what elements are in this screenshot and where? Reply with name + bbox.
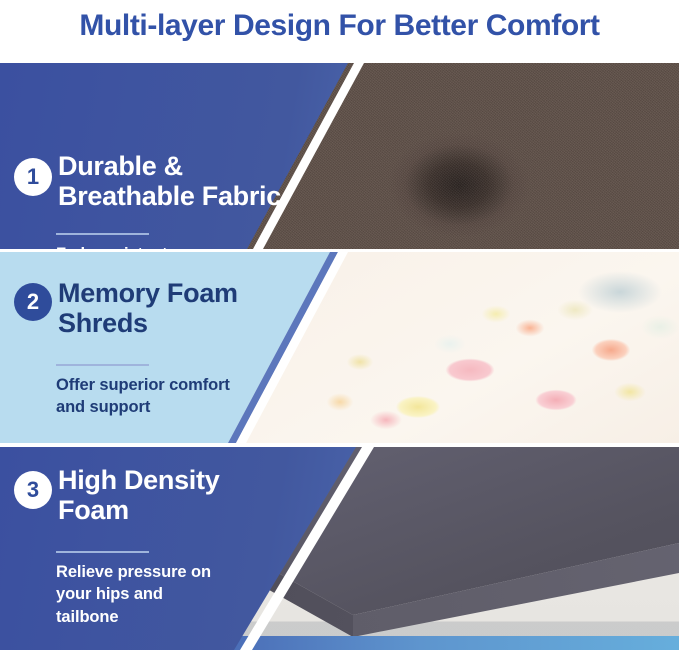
panel-1-subtitle: Fade-resistant, Anti-pilling bbox=[56, 243, 286, 249]
panel-2-title-line-1: Memory Foam bbox=[58, 278, 308, 308]
panel-1-title-line-2: Breathable Fabric bbox=[58, 181, 320, 211]
feature-panel-2: 2 Memory Foam Shreds Offer superior comf… bbox=[0, 252, 679, 443]
panel-3-title-line-2: Foam bbox=[58, 495, 320, 525]
infographic-root: Multi-layer Design For Better Comfort 1 … bbox=[0, 0, 679, 650]
step-number-badge-3: 3 bbox=[14, 471, 52, 509]
step-number-badge-1: 1 bbox=[14, 158, 52, 196]
feature-panel-3: 3 High Density Foam Relieve pressure on … bbox=[0, 447, 679, 650]
panel-2-title-line-2: Shreds bbox=[58, 308, 308, 338]
panel-2-subtitle-line-2: and support bbox=[56, 396, 306, 418]
panel-3-title-line-1: High Density bbox=[58, 465, 320, 495]
panel-3-subtitle-line-2: your hips and bbox=[56, 583, 276, 605]
step-number-badge-2: 2 bbox=[14, 283, 52, 321]
panel-2-subtitle: Offer superior comfort and support bbox=[56, 374, 306, 419]
panel-1-title-line-1: Durable & bbox=[58, 151, 320, 181]
panel-3-divider-rule bbox=[56, 551, 149, 553]
panel-2-subtitle-line-1: Offer superior comfort bbox=[56, 374, 306, 396]
panel-2-title: Memory Foam Shreds bbox=[58, 278, 308, 338]
panel-3-subtitle-line-3: tailbone bbox=[56, 606, 276, 628]
panel-1-subtitle-line-1: Fade-resistant, bbox=[56, 243, 286, 249]
page-title: Multi-layer Design For Better Comfort bbox=[0, 0, 679, 52]
panel-3-subtitle: Relieve pressure on your hips and tailbo… bbox=[56, 561, 276, 628]
feature-panel-1: 1 Durable & Breathable Fabric Fade-resis… bbox=[0, 63, 679, 249]
panel-3-subtitle-line-1: Relieve pressure on bbox=[56, 561, 276, 583]
panel-3-title: High Density Foam bbox=[58, 465, 320, 525]
panel-1-divider-rule bbox=[56, 233, 149, 235]
panel-2-divider-rule bbox=[56, 364, 149, 366]
panel-1-title: Durable & Breathable Fabric bbox=[58, 151, 320, 211]
